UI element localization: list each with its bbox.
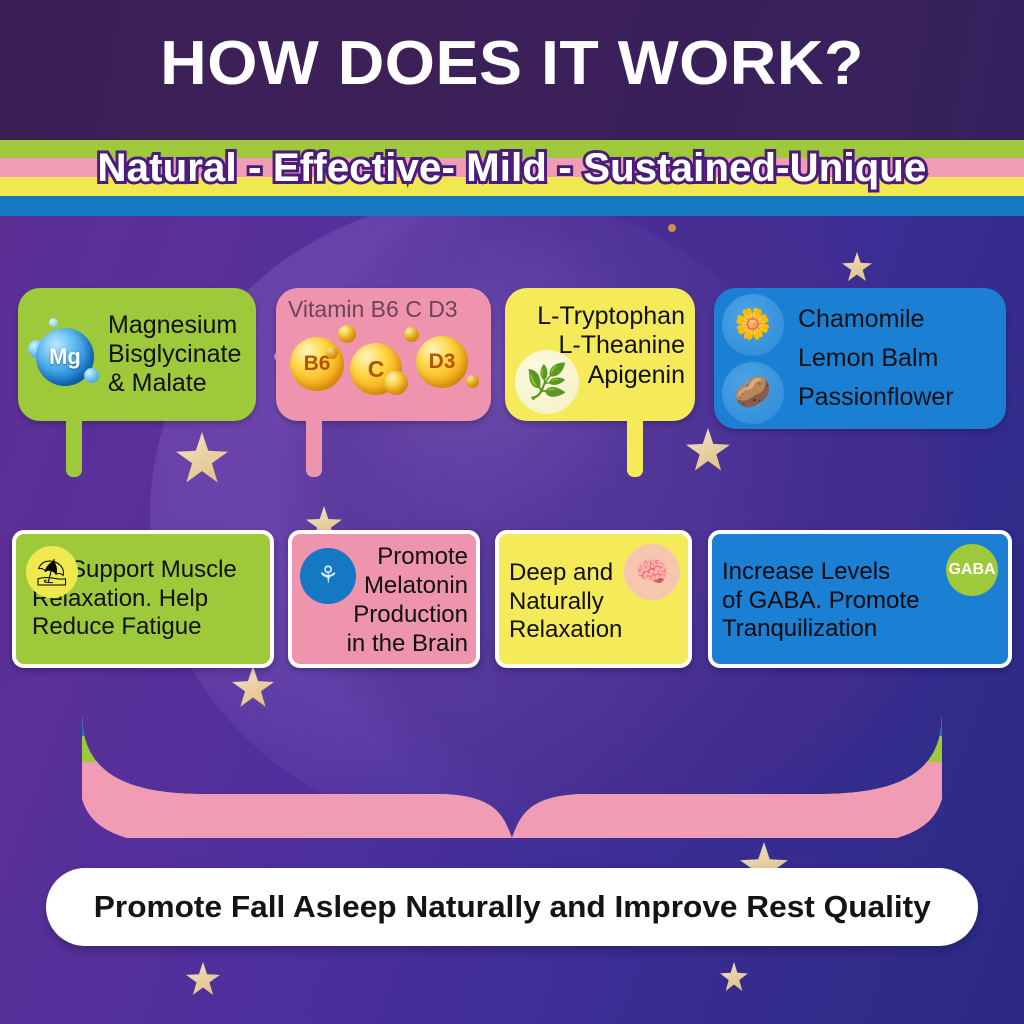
- melatonin-molecule-icon: ⚘: [300, 548, 356, 604]
- ribbon-divider: [80, 708, 944, 838]
- benefit-line: Reduce Fatigue: [32, 613, 237, 642]
- benefit-line: Support Muscle: [70, 556, 237, 585]
- ingredient-line: L-Tryptophan: [515, 302, 685, 331]
- ingredient-line: Chamomile: [798, 300, 954, 339]
- star-decor: [686, 428, 730, 472]
- capsule-bubble: [404, 327, 419, 342]
- benefit-box-melatonin[interactable]: ⚘ Promote Melatonin Production in the Br…: [288, 530, 480, 668]
- herb-leaf-icon: 🌿: [515, 350, 579, 414]
- capsule-bubble: [338, 325, 356, 343]
- benefit-text: Deep and Naturally Relaxation: [509, 553, 622, 645]
- benefit-line: of GABA. Promote: [722, 587, 919, 616]
- capsule-bubble: [326, 347, 338, 359]
- benefit-line: Increase Levels: [722, 558, 919, 587]
- benefit-line: Production: [300, 601, 468, 630]
- benefit-box-muscle-relaxation[interactable]: ⛱ Support Muscle Relaxation. Help Reduce…: [12, 530, 274, 668]
- capsule-bubble: [384, 371, 408, 395]
- star-decor: [842, 252, 872, 282]
- capsule-d3: D3: [416, 336, 468, 388]
- ingredient-line: Magnesium: [108, 311, 241, 340]
- chamomile-flower-icon: 🌼: [722, 294, 784, 356]
- mg-molecule-icon: Mg: [28, 318, 102, 392]
- star-decor: [232, 666, 274, 708]
- brain-icon: 🧠: [624, 544, 680, 600]
- vitamin-heading: Vitamin B6 C D3: [288, 296, 481, 323]
- benefit-line: Tranquilization: [722, 615, 919, 644]
- benefit-line: Naturally: [509, 588, 622, 617]
- footer-text: Promote Fall Asleep Naturally and Improv…: [93, 889, 930, 925]
- ingredient-bubble-vitamins[interactable]: Vitamin B6 C D3 B6 C D3: [276, 288, 491, 421]
- subtitle: Natural - Effective- Mild - Sustained-Un…: [0, 146, 1024, 191]
- botanical-icons: 🌼 🥔: [722, 294, 788, 424]
- ingredient-line: Passionflower: [798, 378, 954, 417]
- capsule-label: D3: [429, 350, 456, 374]
- benefit-text: Increase Levels of GABA. Promote Tranqui…: [722, 554, 919, 644]
- bubble-tail: [627, 419, 643, 477]
- gaba-badge-icon: GABA: [946, 544, 998, 596]
- bubble-tail: [66, 421, 82, 477]
- ingredient-bubble-amino-acids[interactable]: 🌿 L-Tryptophan L-Theanine Apigenin: [505, 288, 695, 421]
- benefit-line: in the Brain: [300, 630, 468, 659]
- infographic-canvas: HOW DOES IT WORK? Natural - Effective- M…: [0, 0, 1024, 1024]
- ingredient-text: Magnesium Bisglycinate & Malate: [108, 311, 241, 399]
- capsule-b6: B6: [290, 337, 344, 391]
- star-decor: [186, 962, 220, 996]
- dot-decor: [668, 224, 676, 232]
- ingredient-bubble-magnesium[interactable]: Mg Magnesium Bisglycinate & Malate: [18, 288, 256, 421]
- star-decor: [176, 432, 228, 484]
- ingredient-line: Bisglycinate: [108, 340, 241, 369]
- vitamin-capsules-icon: B6 C D3: [288, 323, 481, 397]
- bubble-tail: [306, 421, 322, 477]
- beach-umbrella-icon: ⛱: [26, 546, 78, 598]
- ingredient-text: Chamomile Lemon Balm Passionflower: [798, 300, 954, 416]
- stripe-blue: [0, 196, 1024, 216]
- footer-banner: Promote Fall Asleep Naturally and Improv…: [46, 868, 978, 946]
- capsule-label: C: [368, 356, 385, 383]
- benefit-box-deep-relaxation[interactable]: 🧠 Deep and Naturally Relaxation: [495, 530, 692, 668]
- gaba-badge-label: GABA: [948, 561, 995, 579]
- benefit-line: Deep and: [509, 559, 622, 588]
- passionflower-fruit-icon: 🥔: [722, 362, 784, 424]
- ingredient-line: & Malate: [108, 369, 241, 398]
- benefit-line: Relaxation: [509, 616, 622, 645]
- star-decor: [720, 962, 748, 992]
- page-title: HOW DOES IT WORK?: [0, 28, 1024, 99]
- ingredient-bubble-botanicals[interactable]: 🌼 🥔 Chamomile Lemon Balm Passionflower: [714, 288, 1006, 429]
- benefit-box-gaba[interactable]: GABA Increase Levels of GABA. Promote Tr…: [708, 530, 1012, 668]
- ingredient-line: Lemon Balm: [798, 339, 954, 378]
- capsule-bubble: [466, 375, 479, 388]
